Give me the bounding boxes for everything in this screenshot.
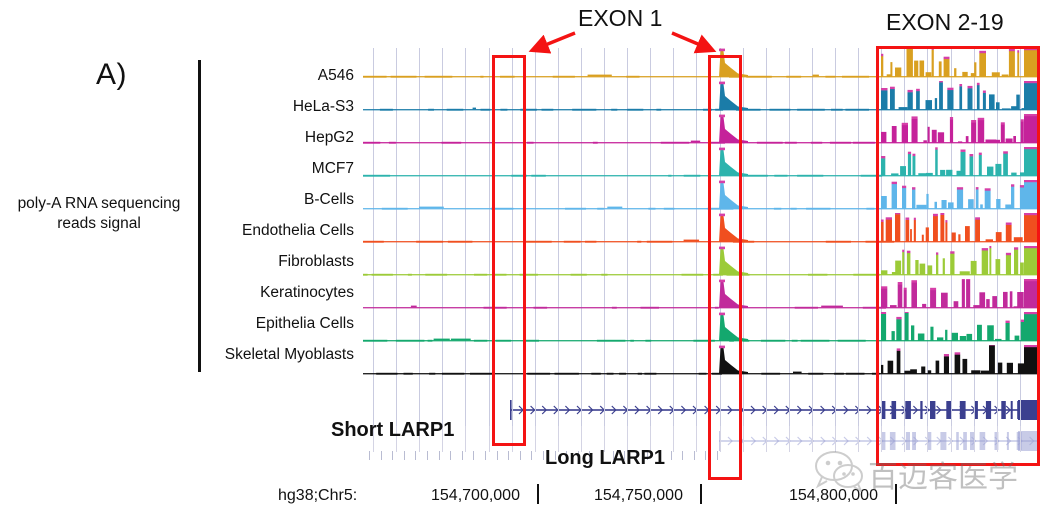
annotation-arrows: [0, 0, 1040, 519]
exon1-arrow-right: [672, 33, 712, 50]
figure-panel: A) poly-A RNA sequencing reads signal A5…: [0, 0, 1040, 519]
exon1-arrow-left: [533, 33, 575, 50]
